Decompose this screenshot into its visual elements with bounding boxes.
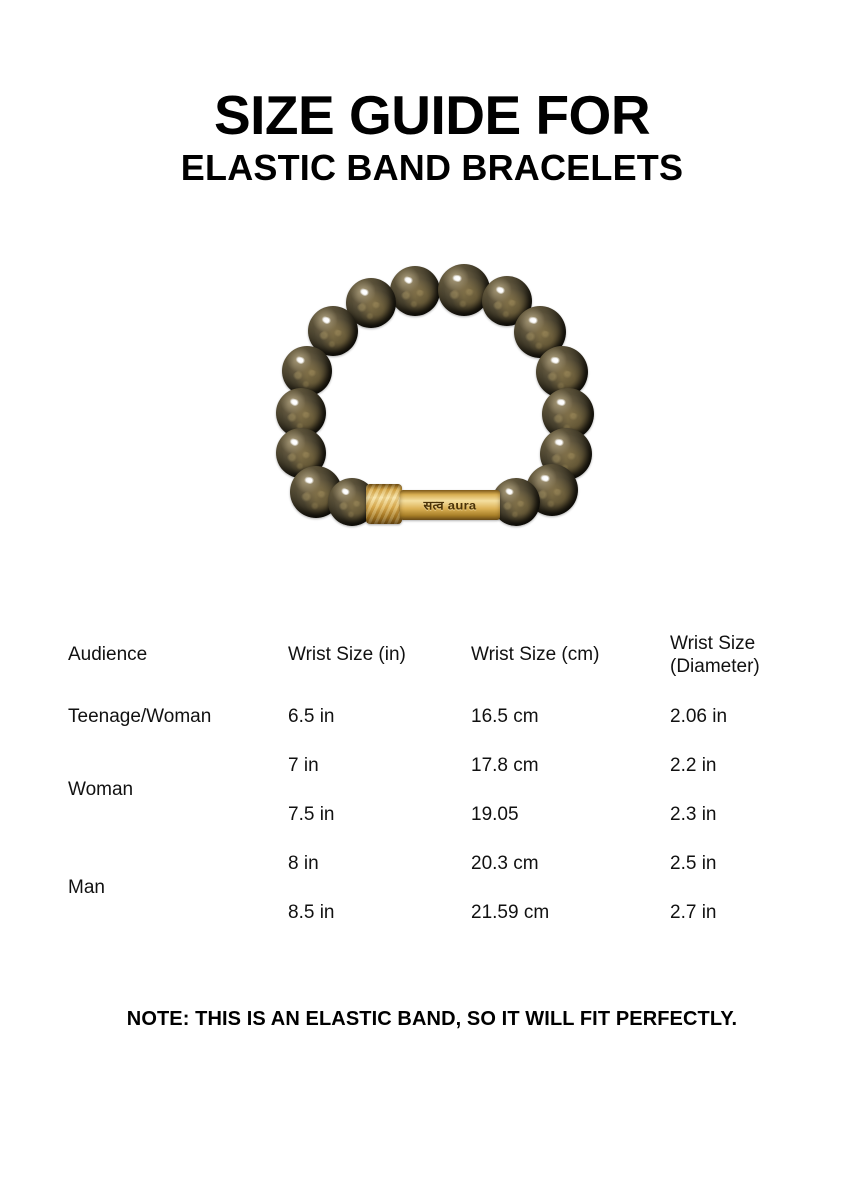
cell-wrist-diameter: 2.5 in: [650, 839, 800, 888]
bracelet-clasp-tube: सत्व aura: [400, 490, 500, 520]
bracelet-product-image: सत्व aura: [262, 262, 598, 562]
cell-wrist-in: 6.5 in: [268, 692, 451, 741]
cell-wrist-cm: 21.59 cm: [451, 888, 650, 937]
cell-wrist-diameter: 2.7 in: [650, 888, 800, 937]
cell-wrist-cm: 16.5 cm: [451, 692, 650, 741]
title-line-primary: SIZE GUIDE FOR: [0, 88, 864, 143]
column-header-audience: Audience: [48, 618, 268, 692]
bracelet-bead-ring: सत्व aura: [262, 262, 598, 562]
cell-wrist-in: 8 in: [268, 839, 451, 888]
page-title: SIZE GUIDE FOR ELASTIC BAND BRACELETS: [0, 88, 864, 187]
cell-wrist-diameter: 2.06 in: [650, 692, 800, 741]
cell-wrist-cm: 19.05: [451, 790, 650, 839]
column-header-wrist-size-in: Wrist Size (in): [268, 618, 451, 692]
column-header-wrist-size-cm: Wrist Size (cm): [451, 618, 650, 692]
table-row: Man 8 in 20.3 cm 2.5 in: [48, 839, 800, 888]
column-header-diameter-line2: (Diameter): [670, 656, 760, 677]
brand-engraving-text: सत्व aura: [424, 497, 477, 514]
cell-wrist-in: 7.5 in: [268, 790, 451, 839]
cell-wrist-diameter: 2.2 in: [650, 741, 800, 790]
table-row: Woman 7 in 17.8 cm 2.2 in: [48, 741, 800, 790]
cell-wrist-cm: 20.3 cm: [451, 839, 650, 888]
cell-audience: Man: [48, 839, 268, 937]
cell-wrist-in: 7 in: [268, 741, 451, 790]
cell-wrist-diameter: 2.3 in: [650, 790, 800, 839]
bracelet-clasp-cap: [366, 484, 402, 524]
cell-audience: Teenage/Woman: [48, 692, 268, 741]
column-header-wrist-size-diameter: Wrist Size (Diameter): [650, 618, 800, 692]
elastic-band-note: NOTE: THIS IS AN ELASTIC BAND, SO IT WIL…: [0, 1008, 864, 1031]
size-guide-table: Audience Wrist Size (in) Wrist Size (cm)…: [48, 618, 800, 937]
bracelet-bead: [390, 266, 440, 316]
title-line-secondary: ELASTIC BAND BRACELETS: [0, 149, 864, 187]
table-header-row: Audience Wrist Size (in) Wrist Size (cm)…: [48, 618, 800, 692]
cell-wrist-cm: 17.8 cm: [451, 741, 650, 790]
column-header-diameter-line1: Wrist Size: [670, 633, 755, 654]
cell-wrist-in: 8.5 in: [268, 888, 451, 937]
table-row: Teenage/Woman 6.5 in 16.5 cm 2.06 in: [48, 692, 800, 741]
cell-audience: Woman: [48, 741, 268, 839]
